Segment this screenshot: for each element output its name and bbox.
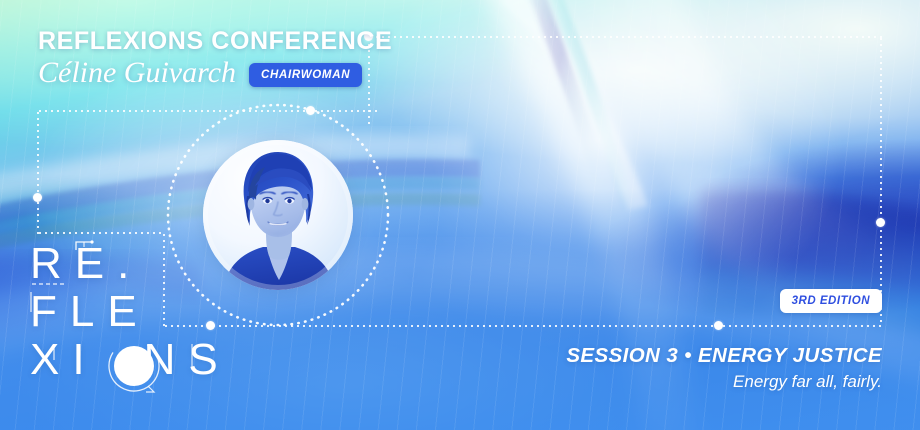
session-tagline: Energy far all, fairly. <box>566 372 882 392</box>
frame-node-right <box>876 218 885 227</box>
edition-badge[interactable]: 3RD EDITION <box>780 289 882 313</box>
frame-node-left <box>33 193 42 202</box>
speaker-name: Céline Guivarch <box>38 55 236 91</box>
conference-title: REFLEXIONS CONFERENCE <box>38 28 392 54</box>
session-title: SESSION 3 • ENERGY JUSTICE <box>566 344 882 368</box>
frame-line-left-lower <box>37 110 39 234</box>
footer-block: SESSION 3 • ENERGY JUSTICE Energy far al… <box>566 344 882 392</box>
frame-line-right <box>880 36 882 326</box>
frame-line-top <box>368 36 882 38</box>
logo-line-3-prefix: XI <box>30 335 98 384</box>
frame-node-bottom-mid <box>714 321 723 330</box>
logo-line-1: RE. <box>30 240 280 288</box>
conference-banner: REFLEXIONS CONFERENCE Céline Guivarch CH… <box>0 0 920 430</box>
logo-line-3-suffix: NS <box>144 335 231 384</box>
speaker-row: Céline Guivarch CHAIRWOMAN <box>38 55 392 91</box>
role-badge[interactable]: CHAIRWOMAN <box>249 63 362 87</box>
reflexions-logo: RE. FLE XINS <box>30 240 280 400</box>
header-block: REFLEXIONS CONFERENCE Céline Guivarch CH… <box>38 28 392 91</box>
logo-line-2: FLE <box>30 288 280 336</box>
logo-line-3: XINS <box>30 336 280 384</box>
frame-line-left-stub <box>37 232 165 234</box>
